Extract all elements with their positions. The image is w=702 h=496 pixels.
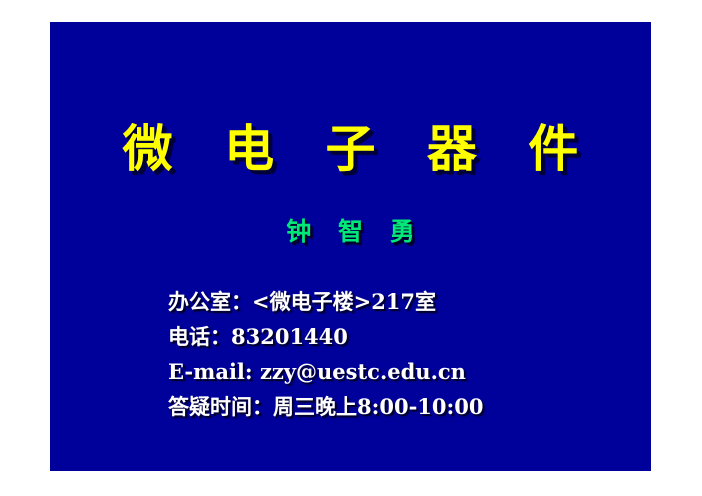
contact-line-email: E-mail: zzy@uestc.edu.cn bbox=[168, 354, 638, 389]
contact-info-block: 办公室：<微电子楼>217室 电话：83201440 E-mail: zzy@u… bbox=[168, 284, 638, 424]
contact-line-office-hours: 答疑时间：周三晚上8:00-10:00 bbox=[168, 389, 638, 424]
presentation-slide: 微 电 子 器 件 钟 智 勇 办公室：<微电子楼>217室 电话：832014… bbox=[50, 22, 651, 471]
slide-author-subtitle: 钟 智 勇 bbox=[50, 216, 651, 248]
slide-title: 微 电 子 器 件 bbox=[50, 120, 651, 178]
contact-line-phone: 电话：83201440 bbox=[168, 319, 638, 354]
contact-line-office: 办公室：<微电子楼>217室 bbox=[168, 284, 638, 319]
